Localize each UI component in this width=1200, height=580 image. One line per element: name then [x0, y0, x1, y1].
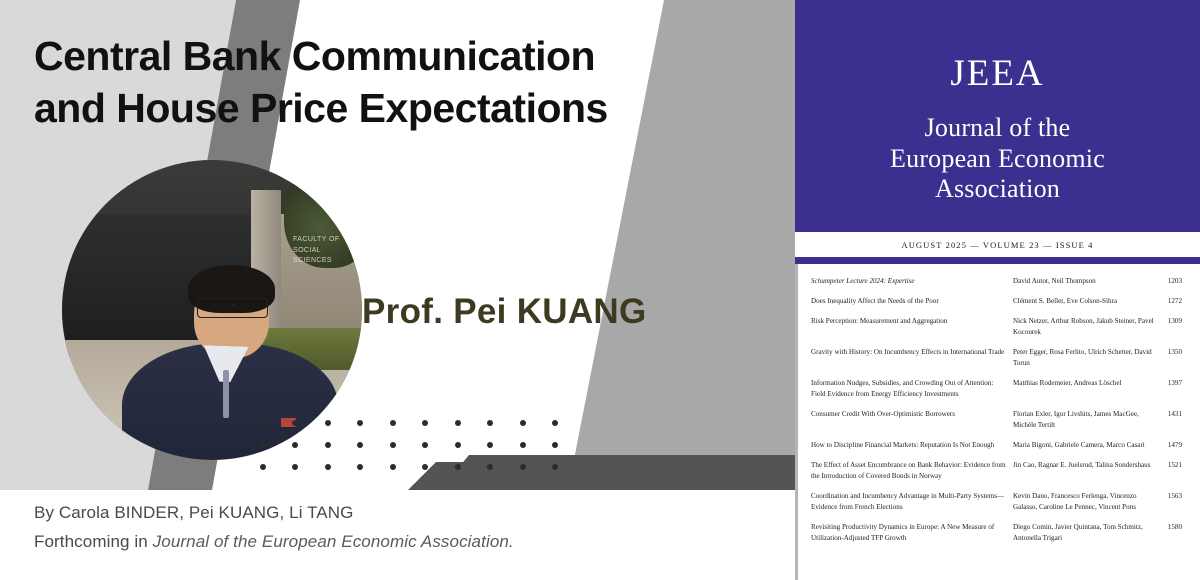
toc-article-title: Coordination and Incumbency Advantage in… [811, 491, 1013, 513]
journal-title-line-2: European Economic [795, 144, 1200, 175]
dot [422, 420, 428, 426]
toc-article-page: 1563 [1156, 491, 1182, 502]
dot [292, 442, 298, 448]
dot-row [260, 442, 580, 464]
toc-article-title: Information Nudges, Subsidies, and Crowd… [811, 378, 1013, 400]
toc-article-page: 1431 [1156, 409, 1182, 420]
caption-block: By Carola BINDER, Pei KUANG, Li TANG For… [34, 498, 514, 556]
toc-row: How to Discipline Financial Markets: Rep… [811, 440, 1182, 451]
toc-article-authors: Jin Cao, Ragnar E. Juelsrud, Talina Sond… [1013, 460, 1156, 471]
journal-acronym: JEEA [795, 0, 1200, 95]
dot-row [260, 464, 580, 486]
toc-row: Revisiting Productivity Dynamics in Euro… [811, 522, 1182, 544]
journal-issue-line: AUGUST 2025 — VOLUME 23 — ISSUE 4 [795, 232, 1200, 257]
toc-row: Consumer Credit With Over-Optimistic Bor… [811, 409, 1182, 431]
dot [455, 420, 461, 426]
toc-row: The Effect of Asset Encumbrance on Bank … [811, 460, 1182, 482]
journal-full-title: Journal of the European Economic Associa… [795, 113, 1200, 205]
dot [487, 420, 493, 426]
dot [552, 442, 558, 448]
caption-forthcoming-prefix: Forthcoming in [34, 532, 153, 551]
toc-article-title: Schumpeter Lecture 2024: Expertise [811, 276, 1013, 287]
portrait-zipper [223, 370, 230, 418]
dot [455, 442, 461, 448]
speaker-name: Prof. Pei KUANG [362, 292, 647, 332]
toc-row: Risk Perception: Measurement and Aggrega… [811, 316, 1182, 338]
toc-article-authors: David Autor, Neil Thompson [1013, 276, 1156, 287]
dot [357, 420, 363, 426]
toc-article-authors: Nick Netzer, Arthur Robson, Jakub Steine… [1013, 316, 1156, 338]
toc-article-title: How to Discipline Financial Markets: Rep… [811, 440, 1013, 451]
dot-grid-decoration [260, 420, 580, 486]
dot [520, 442, 526, 448]
toc-article-page: 1521 [1156, 460, 1182, 471]
toc-article-authors: Maria Bigoni, Gabriele Camera, Marco Cas… [1013, 440, 1156, 451]
dot [455, 464, 461, 470]
dot [520, 464, 526, 470]
toc-article-title: Risk Perception: Measurement and Aggrega… [811, 316, 1013, 327]
toc-article-title: Revisiting Productivity Dynamics in Euro… [811, 522, 1013, 544]
journal-table-of-contents: Schumpeter Lecture 2024: Expertise David… [795, 264, 1200, 544]
dot [292, 464, 298, 470]
dot [357, 464, 363, 470]
left-composition: FACULTY OF SOCIAL SCIENCES Central Bank … [0, 0, 800, 490]
toc-row: Gravity with History: On Incumbency Effe… [811, 347, 1182, 369]
dot [422, 464, 428, 470]
toc-article-authors: Matthias Rodemeier, Andreas Löschel [1013, 378, 1156, 389]
toc-article-page: 1309 [1156, 316, 1182, 327]
toc-article-page: 1272 [1156, 296, 1182, 307]
dot [487, 464, 493, 470]
toc-article-page: 1479 [1156, 440, 1182, 451]
dot [260, 442, 266, 448]
toc-article-authors: Florian Exler, Igor Livshits, James MacG… [1013, 409, 1156, 431]
dot [260, 464, 266, 470]
dot [292, 420, 298, 426]
dot-row [260, 420, 580, 442]
toc-row: Coordination and Incumbency Advantage in… [811, 491, 1182, 513]
toc-row: Does Inequality Affect the Needs of the … [811, 296, 1182, 307]
toc-article-authors: Clément S. Bellet, Eve Colson-Sihra [1013, 296, 1156, 307]
toc-row: Information Nudges, Subsidies, and Crowd… [811, 378, 1182, 400]
dot [357, 442, 363, 448]
poster-root: FACULTY OF SOCIAL SCIENCES Central Bank … [0, 0, 1200, 580]
dot [552, 464, 558, 470]
journal-title-line-1: Journal of the [795, 113, 1200, 144]
toc-row: Schumpeter Lecture 2024: Expertise David… [811, 276, 1182, 287]
journal-masthead: JEEA Journal of the European Economic As… [795, 0, 1200, 232]
dot [325, 442, 331, 448]
toc-article-authors: Diego Comin, Javier Quintana, Tom Schmit… [1013, 522, 1156, 544]
caption-authors: By Carola BINDER, Pei KUANG, Li TANG [34, 498, 514, 527]
toc-article-title: Consumer Credit With Over-Optimistic Bor… [811, 409, 1013, 420]
poster-title: Central Bank Communication and House Pri… [34, 30, 774, 135]
toc-article-authors: Kevin Dano, Francesco Ferlenga, Vincenzo… [1013, 491, 1156, 513]
toc-article-title: Does Inequality Affect the Needs of the … [811, 296, 1013, 307]
toc-article-page: 1203 [1156, 276, 1182, 287]
caption-journal-name: Journal of the European Economic Associa… [153, 532, 514, 551]
portrait-faculty-sign: FACULTY OF SOCIAL SCIENCES [293, 235, 347, 289]
toc-article-page: 1350 [1156, 347, 1182, 358]
dot [390, 464, 396, 470]
dot [260, 420, 266, 426]
toc-article-page: 1580 [1156, 522, 1182, 533]
dot [390, 442, 396, 448]
title-line-1: Central Bank Communication [34, 30, 774, 82]
caption-forthcoming: Forthcoming in Journal of the European E… [34, 527, 514, 556]
journal-title-line-3: Association [795, 174, 1200, 205]
dot [552, 420, 558, 426]
journal-cover: JEEA Journal of the European Economic As… [795, 0, 1200, 580]
journal-divider-rule [795, 257, 1200, 264]
dot [390, 420, 396, 426]
dot [520, 420, 526, 426]
toc-article-page: 1397 [1156, 378, 1182, 389]
dot [422, 442, 428, 448]
portrait-glasses-icon [197, 298, 268, 318]
speaker-portrait: FACULTY OF SOCIAL SCIENCES [62, 160, 362, 460]
dot [325, 420, 331, 426]
dot [325, 464, 331, 470]
toc-article-title: The Effect of Asset Encumbrance on Bank … [811, 460, 1013, 482]
toc-article-authors: Peter Egger, Rosa Ferlito, Ulrich Schett… [1013, 347, 1156, 369]
toc-article-title: Gravity with History: On Incumbency Effe… [811, 347, 1013, 358]
dot [487, 442, 493, 448]
title-line-2: and House Price Expectations [34, 82, 774, 134]
